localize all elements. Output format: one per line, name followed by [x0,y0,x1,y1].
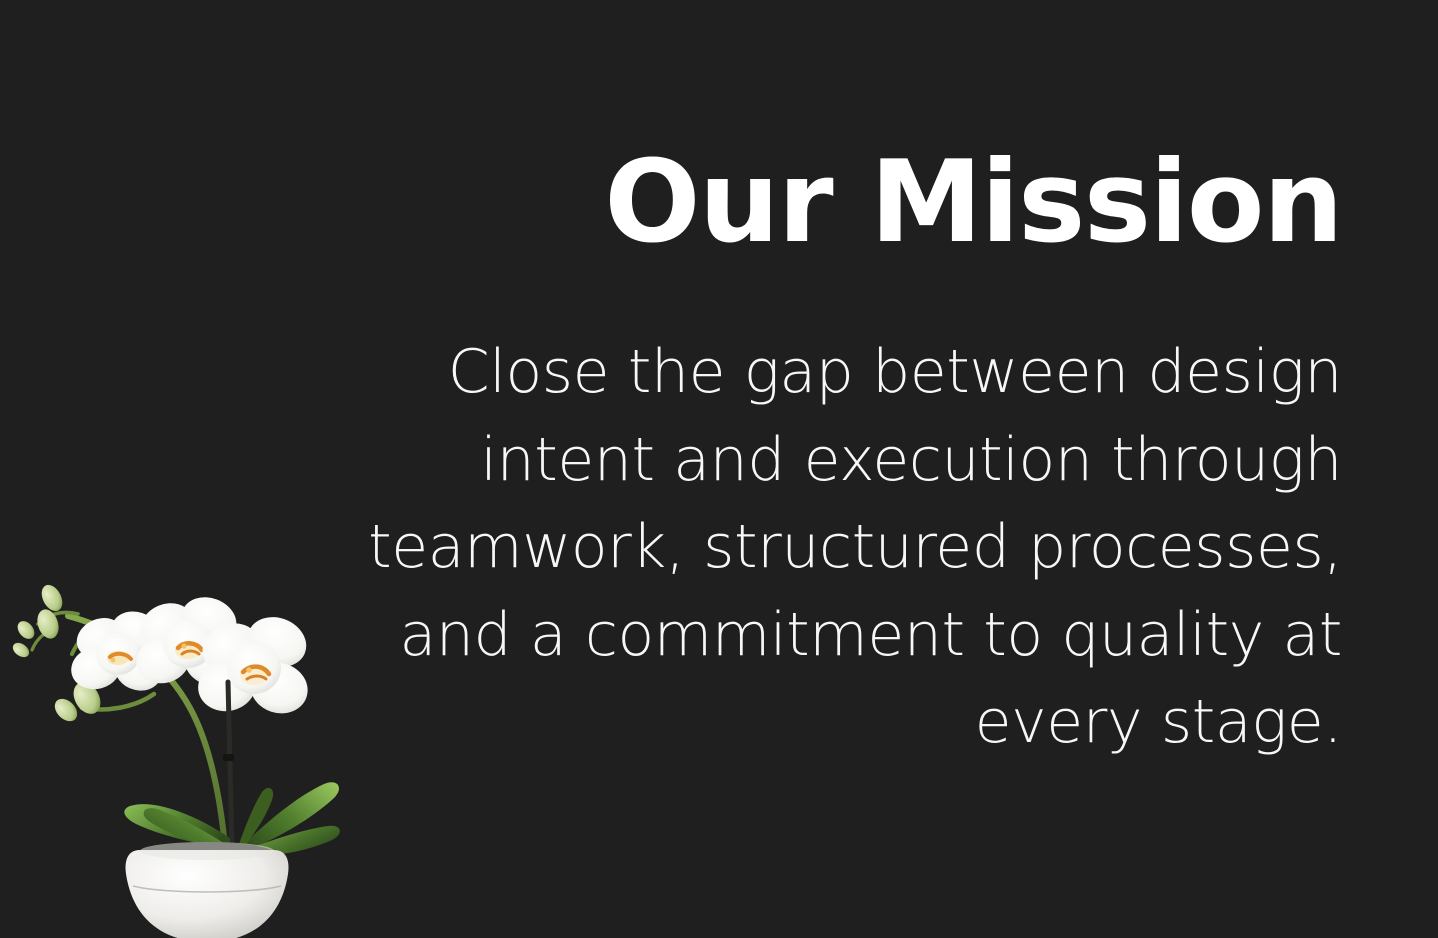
pot-seam-line [133,886,281,892]
mission-body-text: Close the gap between design intent and … [367,329,1342,767]
page-title: Our Mission [604,146,1342,259]
plant-support-stake [228,682,232,850]
orchid-plant-image [0,558,354,938]
orchid-bloom-middle [131,590,244,693]
ceramic-pot [126,842,289,938]
orchid-buds-group [10,581,106,725]
orchid-stem-group [32,612,226,858]
orchid-bloom-right [193,609,314,721]
our-mission-slide: Our Mission Close the gap between design… [0,0,1438,938]
text-content-column: Our Mission Close the gap between design… [360,0,1342,938]
orchid-leaves-group [124,782,340,856]
orchid-bloom-left [66,605,167,697]
